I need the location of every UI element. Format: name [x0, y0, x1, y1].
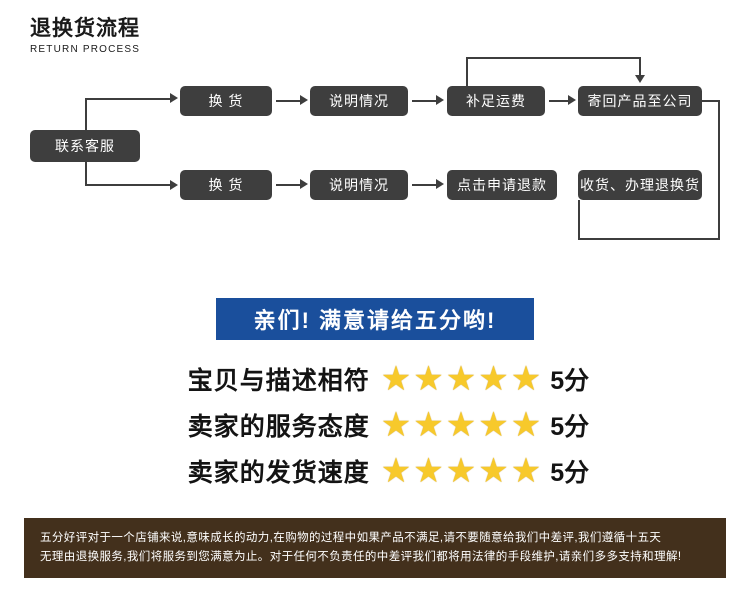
flow-node-start: 联系客服 — [30, 130, 140, 162]
flow-connector-bottom-2-3 — [412, 184, 436, 186]
flow-connector-top-1-2 — [276, 100, 300, 102]
star-rating: ★ ★ ★ ★ ★ — [380, 362, 542, 396]
flow-connector-loop-top — [466, 57, 640, 59]
rating-score: 5分 — [550, 361, 620, 397]
flow-arrow-bottom-2-3 — [436, 179, 444, 189]
star-icon: ★ — [478, 408, 508, 442]
flow-connector-right-loop-bottom — [578, 238, 720, 240]
rating-label: 卖家的发货速度 — [130, 453, 380, 489]
star-icon: ★ — [381, 454, 411, 488]
rating-score: 5分 — [550, 453, 620, 489]
rating-score: 5分 — [550, 407, 620, 443]
flow-connector-right-loop-up — [578, 200, 580, 238]
flow-node-bottom-1: 换 货 — [180, 170, 272, 200]
star-rating: ★ ★ ★ ★ ★ — [380, 408, 542, 442]
flow-connector-top-2-3 — [412, 100, 436, 102]
footer-line-1: 五分好评对于一个店铺来说,意味成长的动力,在购物的过程中如果产品不满足,请不要随… — [40, 529, 710, 548]
star-icon: ★ — [478, 454, 508, 488]
rating-row: 卖家的发货速度 ★ ★ ★ ★ ★ 5分 — [0, 450, 750, 492]
flow-connector-bottom-1-2 — [276, 184, 300, 186]
star-icon: ★ — [446, 408, 476, 442]
flow-node-bottom-2: 说明情况 — [310, 170, 408, 200]
flow-arrow-top-2-3 — [436, 95, 444, 105]
star-icon: ★ — [446, 454, 476, 488]
rating-request-banner: 亲们! 满意请给五分哟! — [216, 298, 534, 340]
star-icon: ★ — [381, 408, 411, 442]
flow-node-top-2: 说明情况 — [310, 86, 408, 116]
flow-connector-top-3-4 — [549, 100, 569, 102]
flow-connector-right-loop-vertical — [718, 100, 720, 240]
star-rating: ★ ★ ★ ★ ★ — [380, 454, 542, 488]
star-icon: ★ — [413, 362, 443, 396]
flow-arrow-top-1-2 — [300, 95, 308, 105]
rating-row: 宝贝与描述相符 ★ ★ ★ ★ ★ 5分 — [0, 358, 750, 400]
star-icon: ★ — [413, 408, 443, 442]
flow-arrow-top-3-4 — [568, 95, 576, 105]
footer-disclaimer: 五分好评对于一个店铺来说,意味成长的动力,在购物的过程中如果产品不满足,请不要随… — [24, 518, 726, 578]
star-icon: ★ — [511, 454, 541, 488]
flow-connector-branch-bottom — [85, 184, 170, 186]
flow-arrow-to-bottom-row — [170, 180, 178, 190]
title-chinese: 退换货流程 — [30, 16, 140, 42]
flow-node-top-4: 寄回产品至公司 — [578, 86, 702, 116]
flow-node-top-1: 换 货 — [180, 86, 272, 116]
flow-node-bottom-4: 收货、办理退换货 — [578, 170, 702, 200]
star-icon: ★ — [511, 408, 541, 442]
page-title: 退换货流程 RETURN PROCESS — [30, 16, 140, 55]
flow-arrow-bottom-1-2 — [300, 179, 308, 189]
star-icon: ★ — [381, 362, 411, 396]
star-icon: ★ — [478, 362, 508, 396]
flow-connector-loop-top-right — [639, 57, 641, 75]
flow-arrow-to-top-row — [170, 93, 178, 103]
star-icon: ★ — [446, 362, 476, 396]
flow-connector-branch-top — [85, 98, 170, 100]
flow-node-top-3: 补足运费 — [447, 86, 545, 116]
rating-label: 卖家的服务态度 — [130, 407, 380, 443]
return-process-flowchart: 联系客服 换 货 说明情况 补足运费 寄回产品至公司 换 货 说明情况 点击申请… — [0, 60, 750, 260]
ratings-section: 宝贝与描述相符 ★ ★ ★ ★ ★ 5分 卖家的服务态度 ★ ★ ★ ★ ★ 5… — [0, 358, 750, 496]
flow-connector-loop-top-left — [466, 57, 468, 86]
title-english: RETURN PROCESS — [30, 44, 140, 55]
flow-node-bottom-3: 点击申请退款 — [447, 170, 557, 200]
star-icon: ★ — [511, 362, 541, 396]
flow-connector-branch-vertical — [85, 98, 87, 130]
flow-connector-branch-down — [85, 162, 87, 184]
rating-label: 宝贝与描述相符 — [130, 361, 380, 397]
rating-row: 卖家的服务态度 ★ ★ ★ ★ ★ 5分 — [0, 404, 750, 446]
star-icon: ★ — [413, 454, 443, 488]
flow-arrow-loop-into-node4 — [635, 75, 645, 83]
footer-line-2: 无理由退换服务,我们将服务到您满意为止。对于任何不负责任的中差评我们都将用法律的… — [40, 548, 710, 567]
